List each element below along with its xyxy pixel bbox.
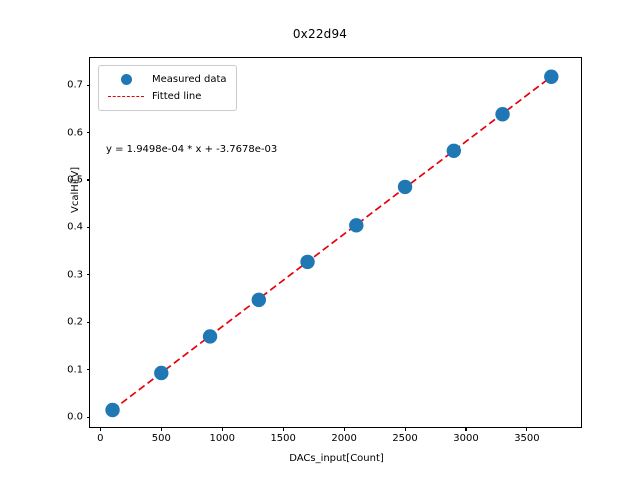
y-tick-mark (87, 132, 91, 133)
x-tick-mark (161, 427, 162, 431)
x-tick-mark (344, 427, 345, 431)
legend-label-fitted-line: Fitted line (146, 91, 201, 102)
legend: Measured data Fitted line (98, 65, 237, 111)
data-point[interactable] (349, 218, 363, 232)
y-tick-mark (87, 274, 91, 275)
x-tick-mark (222, 427, 223, 431)
y-tick-label: 0.0 (67, 412, 83, 423)
data-point[interactable] (154, 366, 168, 380)
y-tick-mark (87, 417, 91, 418)
x-tick-label: 3500 (514, 433, 539, 444)
data-point[interactable] (447, 144, 461, 158)
x-tick-mark (405, 427, 406, 431)
data-point[interactable] (398, 180, 412, 194)
y-tick-mark (87, 369, 91, 370)
y-tick-label: 0.1 (67, 364, 83, 375)
data-point[interactable] (300, 255, 314, 269)
legend-dashed-line-icon (106, 96, 146, 97)
x-tick-label: 500 (152, 433, 171, 444)
plot-area: y = 1.9498e-04 * x + -3.7678e-03 Measure… (89, 57, 582, 428)
x-tick-mark (100, 427, 101, 431)
y-tick-label: 0.2 (67, 317, 83, 328)
data-point[interactable] (495, 107, 509, 121)
legend-item-measured-data[interactable]: Measured data (106, 71, 227, 88)
figure-canvas: 0x22d94 y = 1.9498e-04 * x + -3.7678e-03… (0, 0, 640, 480)
x-tick-label: 1500 (270, 433, 295, 444)
data-point[interactable] (203, 329, 217, 343)
legend-item-fitted-line[interactable]: Fitted line (106, 88, 227, 105)
x-tick-mark (283, 427, 284, 431)
x-tick-label: 2500 (392, 433, 417, 444)
x-tick-mark (526, 427, 527, 431)
y-tick-label: 0.3 (67, 269, 83, 280)
y-tick-mark (87, 322, 91, 323)
fitted-line-path (113, 77, 552, 410)
y-tick-mark (87, 227, 91, 228)
y-tick-label: 0.4 (67, 222, 83, 233)
data-point[interactable] (105, 403, 119, 417)
y-tick-label: 0.6 (67, 127, 83, 138)
y-tick-mark (87, 179, 91, 180)
legend-label-measured-data: Measured data (146, 74, 227, 85)
x-tick-label: 1000 (210, 433, 235, 444)
x-tick-label: 0 (97, 433, 103, 444)
x-tick-label: 2000 (331, 433, 356, 444)
x-axis-label: DACs_input[Count] (90, 453, 583, 464)
fit-equation-annotation: y = 1.9498e-04 * x + -3.7678e-03 (106, 144, 277, 155)
y-tick-mark (87, 85, 91, 86)
y-tick-label: 0.7 (67, 80, 83, 91)
page-title: 0x22d94 (0, 27, 640, 41)
y-tick-label: 0.5 (67, 175, 83, 186)
x-tick-label: 3000 (453, 433, 478, 444)
plot-svg (90, 58, 583, 429)
legend-marker-dot-icon (106, 74, 146, 85)
x-tick-mark (465, 427, 466, 431)
data-point[interactable] (544, 70, 558, 84)
data-point[interactable] (252, 293, 266, 307)
fitted-line (113, 77, 552, 410)
